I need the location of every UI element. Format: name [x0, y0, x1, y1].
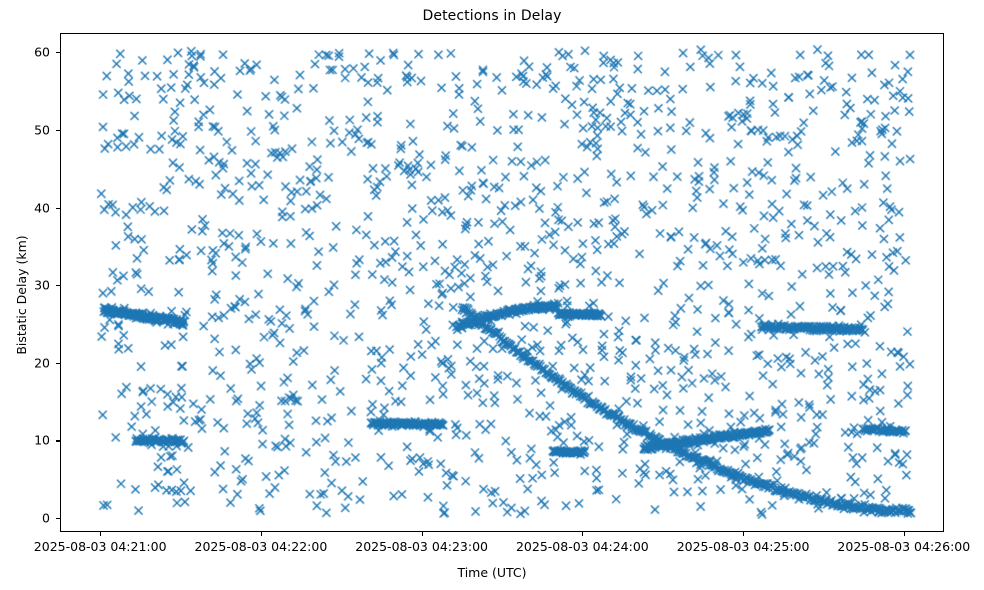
chart-title: Detections in Delay	[0, 8, 984, 24]
y-axis-label-text: Bistatic Delay (km)	[14, 235, 29, 354]
y-tick-mark	[56, 130, 60, 131]
x-tick-mark	[100, 532, 101, 536]
figure-canvas: Detections in Delay 0102030405060 2025-0…	[0, 0, 984, 590]
y-tick-mark	[56, 52, 60, 53]
y-tick-mark	[56, 285, 60, 286]
x-tick-mark	[743, 532, 744, 536]
x-axis-label: Time (UTC)	[0, 565, 984, 580]
x-tick-label-4: 2025-08-03 04:25:00	[677, 539, 810, 554]
y-tick-mark	[56, 518, 60, 519]
y-tick-label-20: 20	[0, 355, 50, 370]
y-tick-mark	[56, 208, 60, 209]
y-tick-label-10: 10	[0, 433, 50, 448]
x-tick-label-0: 2025-08-03 04:21:00	[34, 539, 167, 554]
x-tick-label-5: 2025-08-03 04:26:00	[837, 539, 970, 554]
x-tick-mark	[261, 532, 262, 536]
x-tick-mark	[904, 532, 905, 536]
y-axis-label: Bistatic Delay (km)	[14, 176, 29, 295]
x-tick-label-1: 2025-08-03 04:22:00	[195, 539, 328, 554]
x-tick-label-2: 2025-08-03 04:23:00	[355, 539, 488, 554]
y-tick-mark	[56, 363, 60, 364]
plot-area[interactable]	[60, 33, 944, 532]
x-tick-label-3: 2025-08-03 04:24:00	[516, 539, 649, 554]
x-tick-mark	[582, 532, 583, 536]
y-tick-label-0: 0	[0, 511, 50, 526]
y-tick-label-60: 60	[0, 45, 50, 60]
x-tick-mark	[422, 532, 423, 536]
y-tick-label-50: 50	[0, 123, 50, 138]
y-tick-mark	[56, 440, 60, 441]
scatter-plot-canvas[interactable]	[61, 34, 943, 531]
